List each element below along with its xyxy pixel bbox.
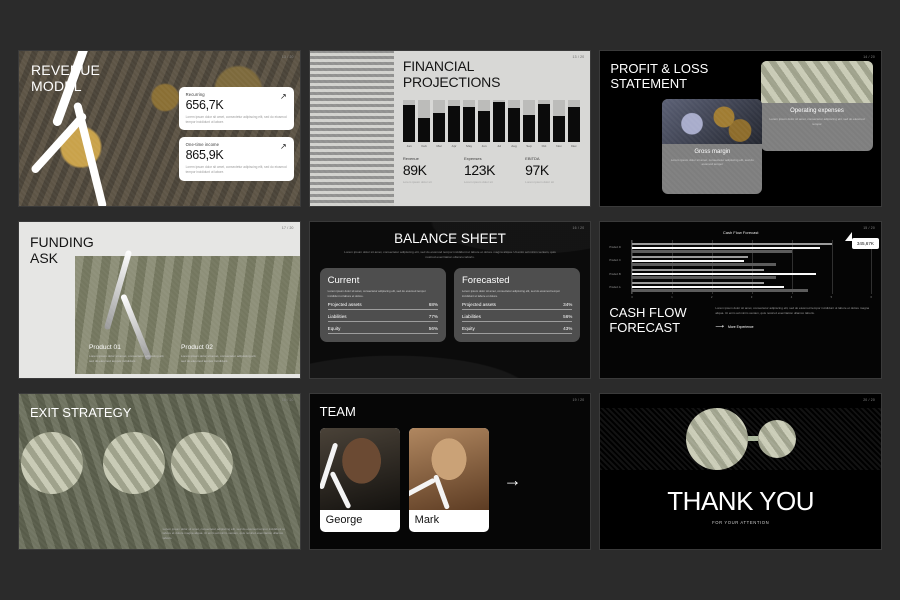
circle-image-2 bbox=[103, 432, 165, 494]
bitcoin-photo bbox=[662, 99, 762, 144]
month-label: Aug bbox=[508, 144, 521, 148]
product-01: Product 01 Lorem ipsum dolor sit amet, c… bbox=[89, 344, 167, 364]
bar-group bbox=[632, 280, 872, 293]
banknotes-photo: Product 01 Lorem ipsum dolor sit amet, c… bbox=[75, 256, 300, 373]
bar bbox=[463, 107, 476, 141]
table-row: Liabilities 77% bbox=[328, 310, 438, 322]
team-member-list: George Mark → bbox=[320, 428, 581, 532]
member-name: George bbox=[320, 510, 400, 532]
bar-column bbox=[508, 100, 521, 142]
column-forecasted: Forecasted Lorem ipsum dolor sit amet, c… bbox=[454, 268, 580, 342]
bar-column bbox=[523, 100, 536, 142]
team-member-mark[interactable]: Mark bbox=[409, 428, 489, 532]
page-number: 19 / 20 bbox=[573, 398, 585, 402]
row-label: Equity bbox=[462, 326, 475, 331]
month-label: Sep bbox=[523, 144, 536, 148]
chart-annotation-callout: 345,67K bbox=[852, 238, 879, 249]
axis-tick: 0 bbox=[631, 296, 632, 299]
table-row: Projected assets 34% bbox=[462, 298, 572, 310]
page-number: 13 / 20 bbox=[573, 55, 585, 59]
metric-label: Expenses bbox=[464, 156, 519, 161]
bar-track bbox=[508, 100, 521, 142]
metric-value: 97K bbox=[525, 162, 580, 178]
ribbon-shape bbox=[329, 471, 351, 509]
bar-group bbox=[632, 254, 872, 267]
product-title: Product 02 bbox=[181, 344, 259, 351]
circle-image-3 bbox=[171, 432, 233, 494]
slide-cash-flow-forecast[interactable]: 15 / 20 Cash Flow Forecast Product DProd… bbox=[599, 221, 882, 378]
member-photo bbox=[409, 428, 489, 510]
row-value: 56% bbox=[429, 326, 438, 331]
column-current: Current Lorem ipsum dolor sit amet, cons… bbox=[320, 268, 446, 342]
bar bbox=[538, 104, 551, 142]
bar bbox=[632, 263, 776, 266]
bar-column bbox=[403, 100, 416, 142]
arrow-up-right-icon: ↗ bbox=[280, 143, 287, 151]
page-number: 13 / 20 bbox=[282, 55, 294, 59]
value-axis-ticks: 0123456 bbox=[631, 296, 872, 299]
card-title: Operating expenses bbox=[761, 108, 873, 114]
balance-columns: Current Lorem ipsum dolor sit amet, cons… bbox=[320, 268, 581, 342]
axis-tick: 5 bbox=[831, 296, 832, 299]
arrow-right-icon: ⟶ bbox=[715, 324, 724, 330]
product-title: Product 01 bbox=[89, 344, 167, 351]
metric-value: 123K bbox=[464, 162, 519, 178]
slide-body-text: Lorem ipsum dolor sit amet, consectetur … bbox=[715, 306, 872, 316]
bar-column bbox=[568, 100, 581, 142]
bar-track bbox=[553, 100, 566, 142]
product-description: Lorem ipsum dolor sit amet, consectetur … bbox=[89, 354, 167, 364]
product-description: Lorem ipsum dolor sit amet, consectetur … bbox=[181, 354, 259, 364]
row-value: 77% bbox=[429, 314, 438, 319]
bar-track bbox=[478, 100, 491, 142]
row-value: 43% bbox=[563, 326, 572, 331]
metrics-row: Revenue 89K Lorem ipsum dolor sit Expens… bbox=[403, 156, 580, 184]
slide-thank-you[interactable]: 20 / 20 THANK YOU FOR YOUR ATTENTION bbox=[599, 393, 882, 550]
bar-column bbox=[553, 100, 566, 142]
month-axis-labels: JanFebMarAprMayJunJulAugSepOctNovDec bbox=[403, 144, 580, 148]
metric-description: Lorem ipsum dolor sit bbox=[464, 180, 519, 184]
ribbon-shape bbox=[320, 442, 338, 489]
circle-image-1 bbox=[21, 432, 83, 494]
bar bbox=[448, 106, 461, 142]
metric-ebitda: EBITDA 97K Lorem ipsum dolor sit bbox=[525, 156, 580, 184]
metric-value: 865,9K bbox=[186, 148, 287, 162]
metric-expenses: Expenses 123K Lorem ipsum dolor sit bbox=[464, 156, 519, 184]
metric-value: 656,7K bbox=[186, 98, 287, 112]
coin-stack-photo bbox=[310, 51, 394, 206]
bar-track bbox=[463, 100, 476, 142]
column-heading: Forecasted bbox=[462, 275, 572, 286]
month-label: Jun bbox=[478, 144, 491, 148]
team-member-george[interactable]: George bbox=[320, 428, 400, 532]
bar-track bbox=[523, 100, 536, 142]
category-label: Product C bbox=[609, 259, 631, 262]
row-value: 34% bbox=[563, 302, 572, 307]
bar-track bbox=[403, 100, 416, 142]
slide-subtitle: FOR YOUR ATTENTION bbox=[600, 520, 881, 525]
card-operating-expenses[interactable]: Operating expenses Lorem ipsum dolor sit… bbox=[761, 61, 873, 151]
column-description: Lorem ipsum dolor sit amet, consectetur … bbox=[328, 289, 438, 298]
month-label: Jan bbox=[403, 144, 416, 148]
page-number: 17 / 20 bbox=[282, 226, 294, 230]
row-label: Liabilities bbox=[328, 314, 347, 319]
bar bbox=[632, 260, 744, 263]
month-label: Apr bbox=[448, 144, 461, 148]
bar-column bbox=[433, 100, 446, 142]
bar bbox=[632, 282, 764, 285]
slide-profit-loss-statement[interactable]: 14 / 20 PROFIT & LOSS STATEMENT Operatin… bbox=[599, 50, 882, 207]
member-name: Mark bbox=[409, 510, 489, 532]
bar bbox=[508, 108, 521, 142]
month-label: Oct bbox=[538, 144, 551, 148]
bar bbox=[418, 118, 431, 142]
axis-tick: 1 bbox=[671, 296, 672, 299]
row-label: Liabilities bbox=[462, 314, 481, 319]
axis-tick: 2 bbox=[711, 296, 712, 299]
metric-description: Lorem ipsum dolor sit amet, consectetur … bbox=[186, 165, 287, 174]
page-number: 18 / 20 bbox=[282, 398, 294, 402]
metric-label: Recurring bbox=[186, 92, 287, 97]
cash-flow-bar-chart: Product DProduct CProduct BProduct A 345… bbox=[609, 240, 872, 294]
category-label: Product B bbox=[609, 273, 631, 276]
bar bbox=[632, 269, 764, 272]
category-axis-labels: Product DProduct CProduct BProduct A bbox=[609, 240, 631, 294]
bar bbox=[632, 250, 792, 253]
category-label: Product A bbox=[609, 286, 631, 289]
card-description: Lorem ipsum dolor sit amet, consectetur … bbox=[761, 117, 873, 126]
bar-track bbox=[433, 100, 446, 142]
member-photo bbox=[320, 428, 400, 510]
hourglass-neck bbox=[748, 436, 758, 441]
slide-title: THANK YOU bbox=[600, 486, 881, 517]
metric-label: One-time income bbox=[186, 142, 287, 147]
axis-tick: 6 bbox=[870, 296, 871, 299]
metric-label: EBITDA bbox=[525, 156, 580, 161]
slide-exit-strategy[interactable]: 18 / 20 EXIT STRATEGY Lorem ipsum dolor … bbox=[18, 393, 301, 550]
bar-column bbox=[493, 100, 506, 142]
row-label: Equity bbox=[328, 326, 341, 331]
table-row: Equity 56% bbox=[328, 322, 438, 334]
product-list: Product 01 Lorem ipsum dolor sit amet, c… bbox=[89, 344, 292, 364]
bar bbox=[403, 105, 416, 142]
row-value: 56% bbox=[563, 314, 572, 319]
bar bbox=[632, 289, 808, 292]
slide-balance-sheet[interactable]: 16 / 20 BALANCE SHEET Lorem ipsum dolor … bbox=[309, 221, 592, 378]
month-label: Mar bbox=[433, 144, 446, 148]
metric-card-list: Recurring 656,7K Lorem ipsum dolor sit a… bbox=[179, 87, 294, 188]
category-label: Product D bbox=[609, 246, 631, 249]
chart-title: Cash Flow Forecast bbox=[609, 230, 872, 235]
bar-track bbox=[568, 100, 581, 142]
bar-group bbox=[632, 241, 872, 254]
slide-note-text: Lorem ipsum dolor sit amet, consectetur … bbox=[163, 527, 291, 541]
bar bbox=[523, 115, 536, 142]
bar bbox=[632, 243, 832, 246]
slide-team[interactable]: 19 / 20 TEAM George Mark → bbox=[309, 393, 592, 550]
bar-column bbox=[418, 100, 431, 142]
bar-column bbox=[463, 100, 476, 142]
column-heading: Current bbox=[328, 275, 438, 286]
arrow-up-right-icon: ↗ bbox=[280, 93, 287, 101]
metric-label: Revenue bbox=[403, 156, 458, 161]
metric-description: Lorem ipsum dolor sit bbox=[403, 180, 458, 184]
product-02: Product 02 Lorem ipsum dolor sit amet, c… bbox=[181, 344, 259, 364]
link-label: More Experience bbox=[728, 325, 754, 329]
slide-deck: REVENUE MODEL Recurring 656,7K Lorem ips… bbox=[0, 0, 900, 600]
bar bbox=[433, 113, 446, 142]
slide-intro-text: Lorem ipsum dolor sit amet, consectetur … bbox=[342, 250, 557, 260]
metric-card-one-time-income[interactable]: One-time income 865,9K Lorem ipsum dolor… bbox=[179, 137, 294, 180]
bar bbox=[632, 273, 816, 276]
slide-funding-ask[interactable]: 17 / 20 FUNDING ASK Product 01 Lorem ips… bbox=[18, 221, 301, 378]
bar-track bbox=[448, 100, 461, 142]
bar bbox=[478, 111, 491, 142]
dollar-bills-photo bbox=[761, 61, 873, 103]
circle-image-right bbox=[758, 420, 796, 458]
table-row: Equity 43% bbox=[462, 322, 572, 334]
slide-title: BALANCE SHEET bbox=[320, 231, 581, 246]
more-experience-link[interactable]: ⟶ More Experience bbox=[715, 324, 872, 330]
bar-column bbox=[448, 100, 461, 142]
circle-image-left bbox=[686, 408, 748, 470]
slide-title: CASH FLOW FORECAST bbox=[609, 306, 705, 336]
metric-revenue: Revenue 89K Lorem ipsum dolor sit bbox=[403, 156, 458, 184]
month-label: Nov bbox=[553, 144, 566, 148]
slide-revenue-model[interactable]: REVENUE MODEL Recurring 656,7K Lorem ips… bbox=[18, 50, 301, 207]
page-number: 16 / 20 bbox=[573, 226, 585, 230]
metric-description: Lorem ipsum dolor sit amet, consectetur … bbox=[186, 115, 287, 124]
metric-card-recurring[interactable]: Recurring 656,7K Lorem ipsum dolor sit a… bbox=[179, 87, 294, 130]
hourglass-graphic bbox=[600, 408, 881, 470]
slide-title: PROFIT & LOSS STATEMENT bbox=[610, 62, 708, 92]
bar bbox=[553, 116, 566, 142]
slide-title: REVENUE MODEL bbox=[31, 63, 100, 94]
page-number: 14 / 20 bbox=[863, 55, 875, 59]
slide-title: FUNDING ASK bbox=[30, 234, 94, 266]
bar bbox=[493, 102, 506, 142]
card-title: Gross margin bbox=[662, 149, 762, 155]
bar bbox=[632, 247, 820, 250]
axis-tick: 3 bbox=[751, 296, 752, 299]
column-description: Lorem ipsum dolor sit amet, consectetur … bbox=[462, 289, 572, 298]
month-label: Feb bbox=[418, 144, 431, 148]
month-label: Jul bbox=[493, 144, 506, 148]
table-row: Projected assets 68% bbox=[328, 298, 438, 310]
bar bbox=[568, 107, 581, 142]
bar bbox=[632, 256, 748, 259]
ribbon-shape bbox=[409, 477, 436, 502]
chart-plot-area bbox=[631, 240, 872, 294]
bar-track bbox=[538, 100, 551, 142]
slide-title: EXIT STRATEGY bbox=[30, 405, 131, 420]
ribbon-shape bbox=[433, 474, 450, 510]
metric-value: 89K bbox=[403, 162, 458, 178]
monthly-bar-chart bbox=[403, 100, 580, 142]
bar-track bbox=[493, 100, 506, 142]
axis-tick: 4 bbox=[791, 296, 792, 299]
arrow-right-icon[interactable]: → bbox=[504, 471, 522, 489]
slide-title: TEAM bbox=[320, 404, 581, 419]
card-description: Lorem ipsum dolor sit amet, consectetur … bbox=[662, 158, 762, 167]
table-row: Liabilities 56% bbox=[462, 310, 572, 322]
bar-column bbox=[538, 100, 551, 142]
row-label: Projected assets bbox=[462, 302, 496, 307]
card-gross-margin[interactable]: Gross margin Lorem ipsum dolor sit amet,… bbox=[662, 99, 762, 194]
slide-title: FINANCIAL PROJECTIONS bbox=[403, 59, 580, 91]
bar bbox=[632, 286, 784, 289]
bar-track bbox=[418, 100, 431, 142]
page-number: 15 / 20 bbox=[863, 226, 875, 230]
bar-column bbox=[478, 100, 491, 142]
month-label: Dec bbox=[568, 144, 581, 148]
row-label: Projected assets bbox=[328, 302, 362, 307]
page-number: 20 / 20 bbox=[863, 398, 875, 402]
metric-description: Lorem ipsum dolor sit bbox=[525, 180, 580, 184]
bar-group bbox=[632, 267, 872, 280]
month-label: May bbox=[463, 144, 476, 148]
row-value: 68% bbox=[429, 302, 438, 307]
bar bbox=[632, 276, 776, 279]
slide-financial-projections[interactable]: 13 / 20 FINANCIAL PROJECTIONS JanFebMarA… bbox=[309, 50, 592, 207]
